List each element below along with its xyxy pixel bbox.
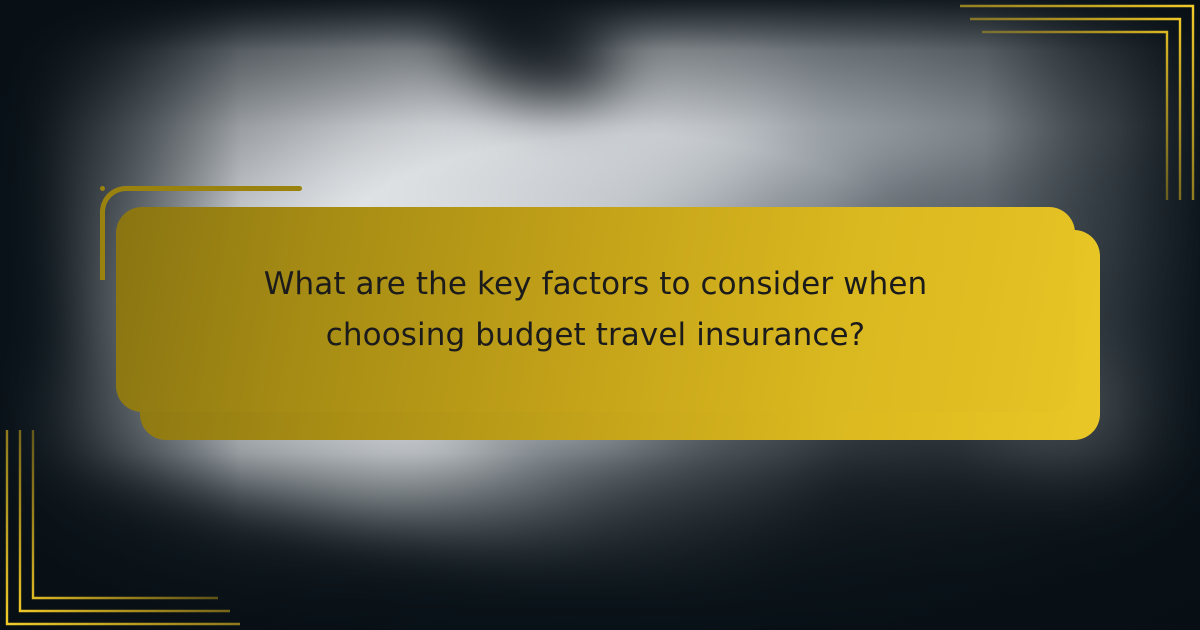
question-text: What are the key factors to consider whe… [196, 259, 996, 359]
question-text-line-1: What are the key factors to consider whe… [196, 259, 996, 309]
question-card-stack: What are the key factors to consider whe… [0, 0, 1200, 630]
share-card-canvas: What are the key factors to consider whe… [0, 0, 1200, 630]
gold-outline-bracket-end-cap [100, 274, 105, 279]
question-text-line-2: choosing budget travel insurance? [196, 310, 996, 360]
question-card: What are the key factors to consider whe… [116, 207, 1075, 412]
